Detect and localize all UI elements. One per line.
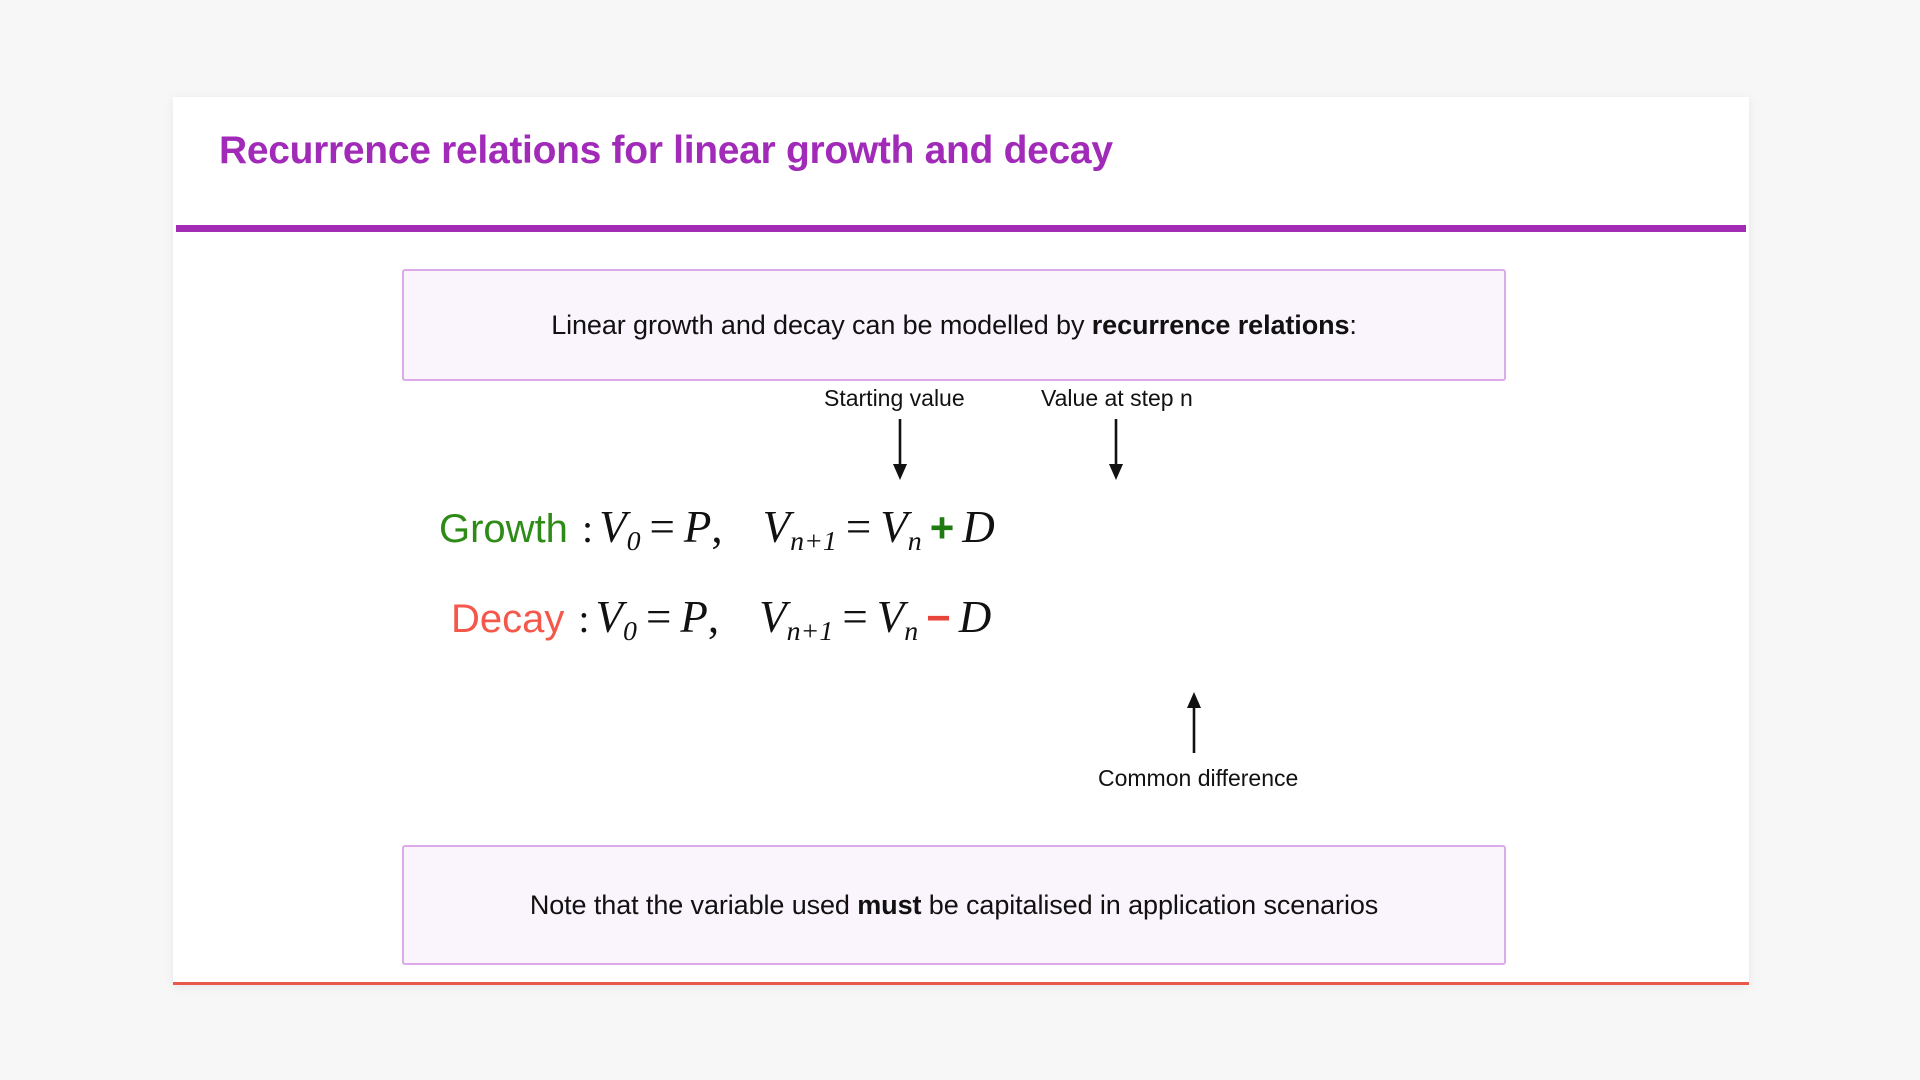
note-callout-text: Note that the variable used must be capi…	[530, 890, 1378, 921]
formula-decay-recurrence: Vn+1=Vn−D	[759, 591, 991, 648]
arrow-up-common-difference	[1181, 691, 1207, 753]
growth-rhs-subscript: n	[908, 526, 922, 557]
intro-callout-text: Linear growth and decay can be modelled …	[551, 310, 1357, 341]
decay-equals: =	[833, 592, 876, 642]
header-divider	[176, 225, 1746, 232]
card-header: Recurrence relations for linear growth a…	[173, 97, 1749, 229]
growth-initial-equals: =	[641, 502, 684, 552]
intro-text-after: :	[1349, 310, 1356, 340]
decay-initial-equals: =	[637, 592, 680, 642]
annotation-common-difference: Common difference	[1098, 765, 1298, 792]
decay-lhs-variable: V	[759, 592, 787, 642]
decay-comma: ,	[708, 592, 719, 642]
annotation-value-at-step-n: Value at step n	[1041, 385, 1193, 412]
intro-text-bold: recurrence relations	[1092, 310, 1350, 340]
note-text-bold: must	[857, 890, 921, 920]
growth-lhs-subscript: n+1	[790, 526, 837, 557]
formula-growth-initial: V0=P,	[599, 501, 723, 558]
growth-operator-plus: +	[922, 504, 963, 551]
formula-label-decay: Decay	[451, 597, 564, 642]
slide-card: Recurrence relations for linear growth a…	[173, 97, 1749, 985]
growth-initial-subscript: 0	[627, 526, 641, 557]
decay-rhs-subscript: n	[904, 616, 918, 647]
page-title: Recurrence relations for linear growth a…	[219, 129, 1113, 173]
arrow-down-value-at-step-n	[1103, 419, 1129, 481]
formula-row-growth: Growth : V0=P, Vn+1=Vn+D	[439, 501, 995, 558]
formula-decay-initial: V0=P,	[596, 591, 720, 648]
growth-difference: D	[962, 502, 995, 552]
growth-comma: ,	[711, 502, 722, 552]
growth-rhs-variable: V	[880, 502, 908, 552]
note-callout-box: Note that the variable used must be capi…	[402, 845, 1506, 965]
growth-initial-value: P	[684, 502, 712, 552]
decay-rhs-variable: V	[877, 592, 905, 642]
note-text-before: Note that the variable used	[530, 890, 857, 920]
growth-initial-variable: V	[599, 502, 627, 552]
intro-callout-box: Linear growth and decay can be modelled …	[402, 269, 1506, 381]
decay-initial-value: P	[680, 592, 708, 642]
decay-initial-subscript: 0	[623, 616, 637, 647]
annotation-starting-value: Starting value	[824, 385, 965, 412]
formula-colon-decay: :	[564, 595, 595, 642]
formula-label-growth: Growth	[439, 507, 568, 552]
decay-operator-minus: −	[918, 594, 959, 641]
growth-lhs-variable: V	[763, 502, 791, 552]
formula-row-decay: Decay : V0=P, Vn+1=Vn−D	[451, 591, 991, 648]
intro-text-before: Linear growth and decay can be modelled …	[551, 310, 1092, 340]
decay-initial-variable: V	[596, 592, 624, 642]
note-text-after: be capitalised in application scenarios	[921, 890, 1378, 920]
formula-growth-recurrence: Vn+1=Vn+D	[763, 501, 995, 558]
decay-difference: D	[959, 592, 992, 642]
growth-equals: =	[837, 502, 880, 552]
formula-colon-growth: :	[568, 505, 599, 552]
decay-lhs-subscript: n+1	[787, 616, 834, 647]
arrow-down-starting-value	[887, 419, 913, 481]
